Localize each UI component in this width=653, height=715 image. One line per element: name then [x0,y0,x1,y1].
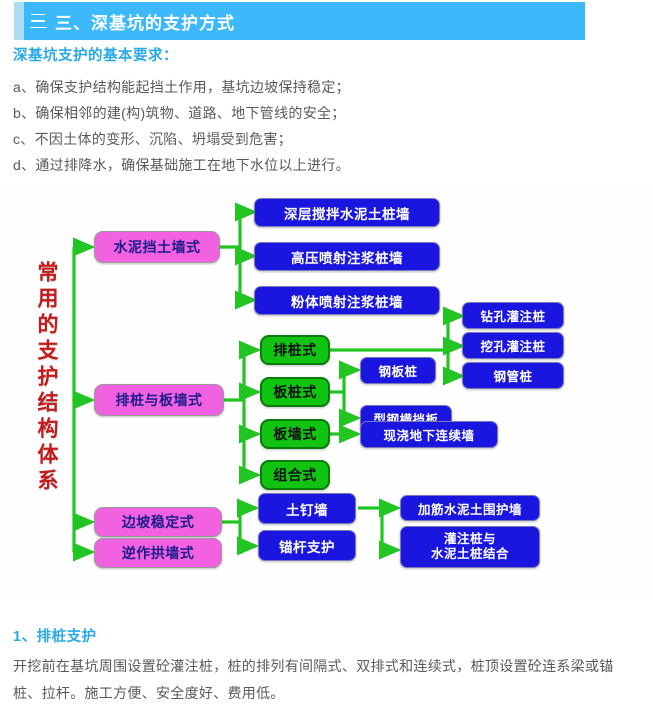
node-pile-cement-combo[interactable]: 灌注桩与 水泥土桩结合 [400,526,540,568]
node-reinforced-cement-wall[interactable]: 加筋水泥土围护墙 [400,495,540,521]
node-pile-cement-combo-line1: 灌注桩与 [444,532,496,547]
diagram-root-label: 常用的支护结构体系 [28,208,64,548]
node-cast-in-place-wall[interactable]: 现浇地下连续墙 [360,421,498,448]
node-pile-cement-combo-line2: 水泥土桩结合 [431,547,509,562]
intro-lead: 深基坑支护的基本要求： [13,44,633,65]
header-background: 三、深基坑的支护方式 [24,2,585,40]
node-powder-jet[interactable]: 粉体喷射注浆桩墙 [254,286,440,315]
footer-body: 开挖前在基坑周围设置砼灌注桩，桩的排列有间隔式、双排式和连续式，桩顶设置砼连系梁… [13,653,638,707]
footer-heading: 1、排桩支护 [13,625,638,646]
support-structure-diagram: 常用的支护结构体系 水泥挡土墙式 排桩与板墙式 边坡稳定式 逆作拱墙式 深层搅拌… [0,190,653,600]
page-title: 三、深基坑的支护方式 [55,9,235,34]
list-lines-icon [27,2,49,40]
node-pile-plank-wall[interactable]: 排桩与板墙式 [94,384,224,416]
node-high-pressure-jet[interactable]: 高压喷射注浆桩墙 [254,242,440,271]
node-plank-wall[interactable]: 板墙式 [260,419,330,449]
node-bored-pile[interactable]: 钻孔灌注桩 [462,302,564,329]
node-steel-pipe-pile[interactable]: 钢管桩 [462,362,564,389]
node-steel-sheet-pile[interactable]: 钢板桩 [360,357,436,384]
header-accent-strip [14,2,24,40]
footer-block: 1、排桩支护 开挖前在基坑周围设置砼灌注桩，桩的排列有间隔式、双排式和连续式，桩… [13,625,638,707]
node-anchor-support[interactable]: 锚杆支护 [258,530,356,561]
intro-line-d: d、通过排降水，确保基础施工在地下水位以上进行。 [13,152,633,178]
intro-line-b: b、确保相邻的建(构)筑物、道路、地下管线的安全； [13,100,633,126]
node-dug-pile[interactable]: 挖孔灌注桩 [462,332,564,359]
node-sheet-pile[interactable]: 板桩式 [260,377,330,407]
intro-line-c: c、不因土体的变形、沉陷、坍塌受到危害； [13,126,633,152]
node-slope-stable[interactable]: 边坡稳定式 [94,507,222,537]
section-header-bar: 三、深基坑的支护方式 [14,2,585,40]
node-soil-nail-wall[interactable]: 土钉墙 [258,493,356,524]
node-cement-wall[interactable]: 水泥挡土墙式 [94,231,220,263]
intro-block: 深基坑支护的基本要求： a、确保支护结构能起挡土作用，基坑边坡保持稳定； b、确… [13,44,633,178]
node-deep-mixing[interactable]: 深层搅拌水泥土桩墙 [254,198,440,227]
node-reverse-arch-wall[interactable]: 逆作拱墙式 [94,538,222,568]
node-composite[interactable]: 组合式 [260,460,330,490]
node-row-pile[interactable]: 排桩式 [260,335,330,365]
intro-line-a: a、确保支护结构能起挡土作用，基坑边坡保持稳定； [13,74,633,100]
